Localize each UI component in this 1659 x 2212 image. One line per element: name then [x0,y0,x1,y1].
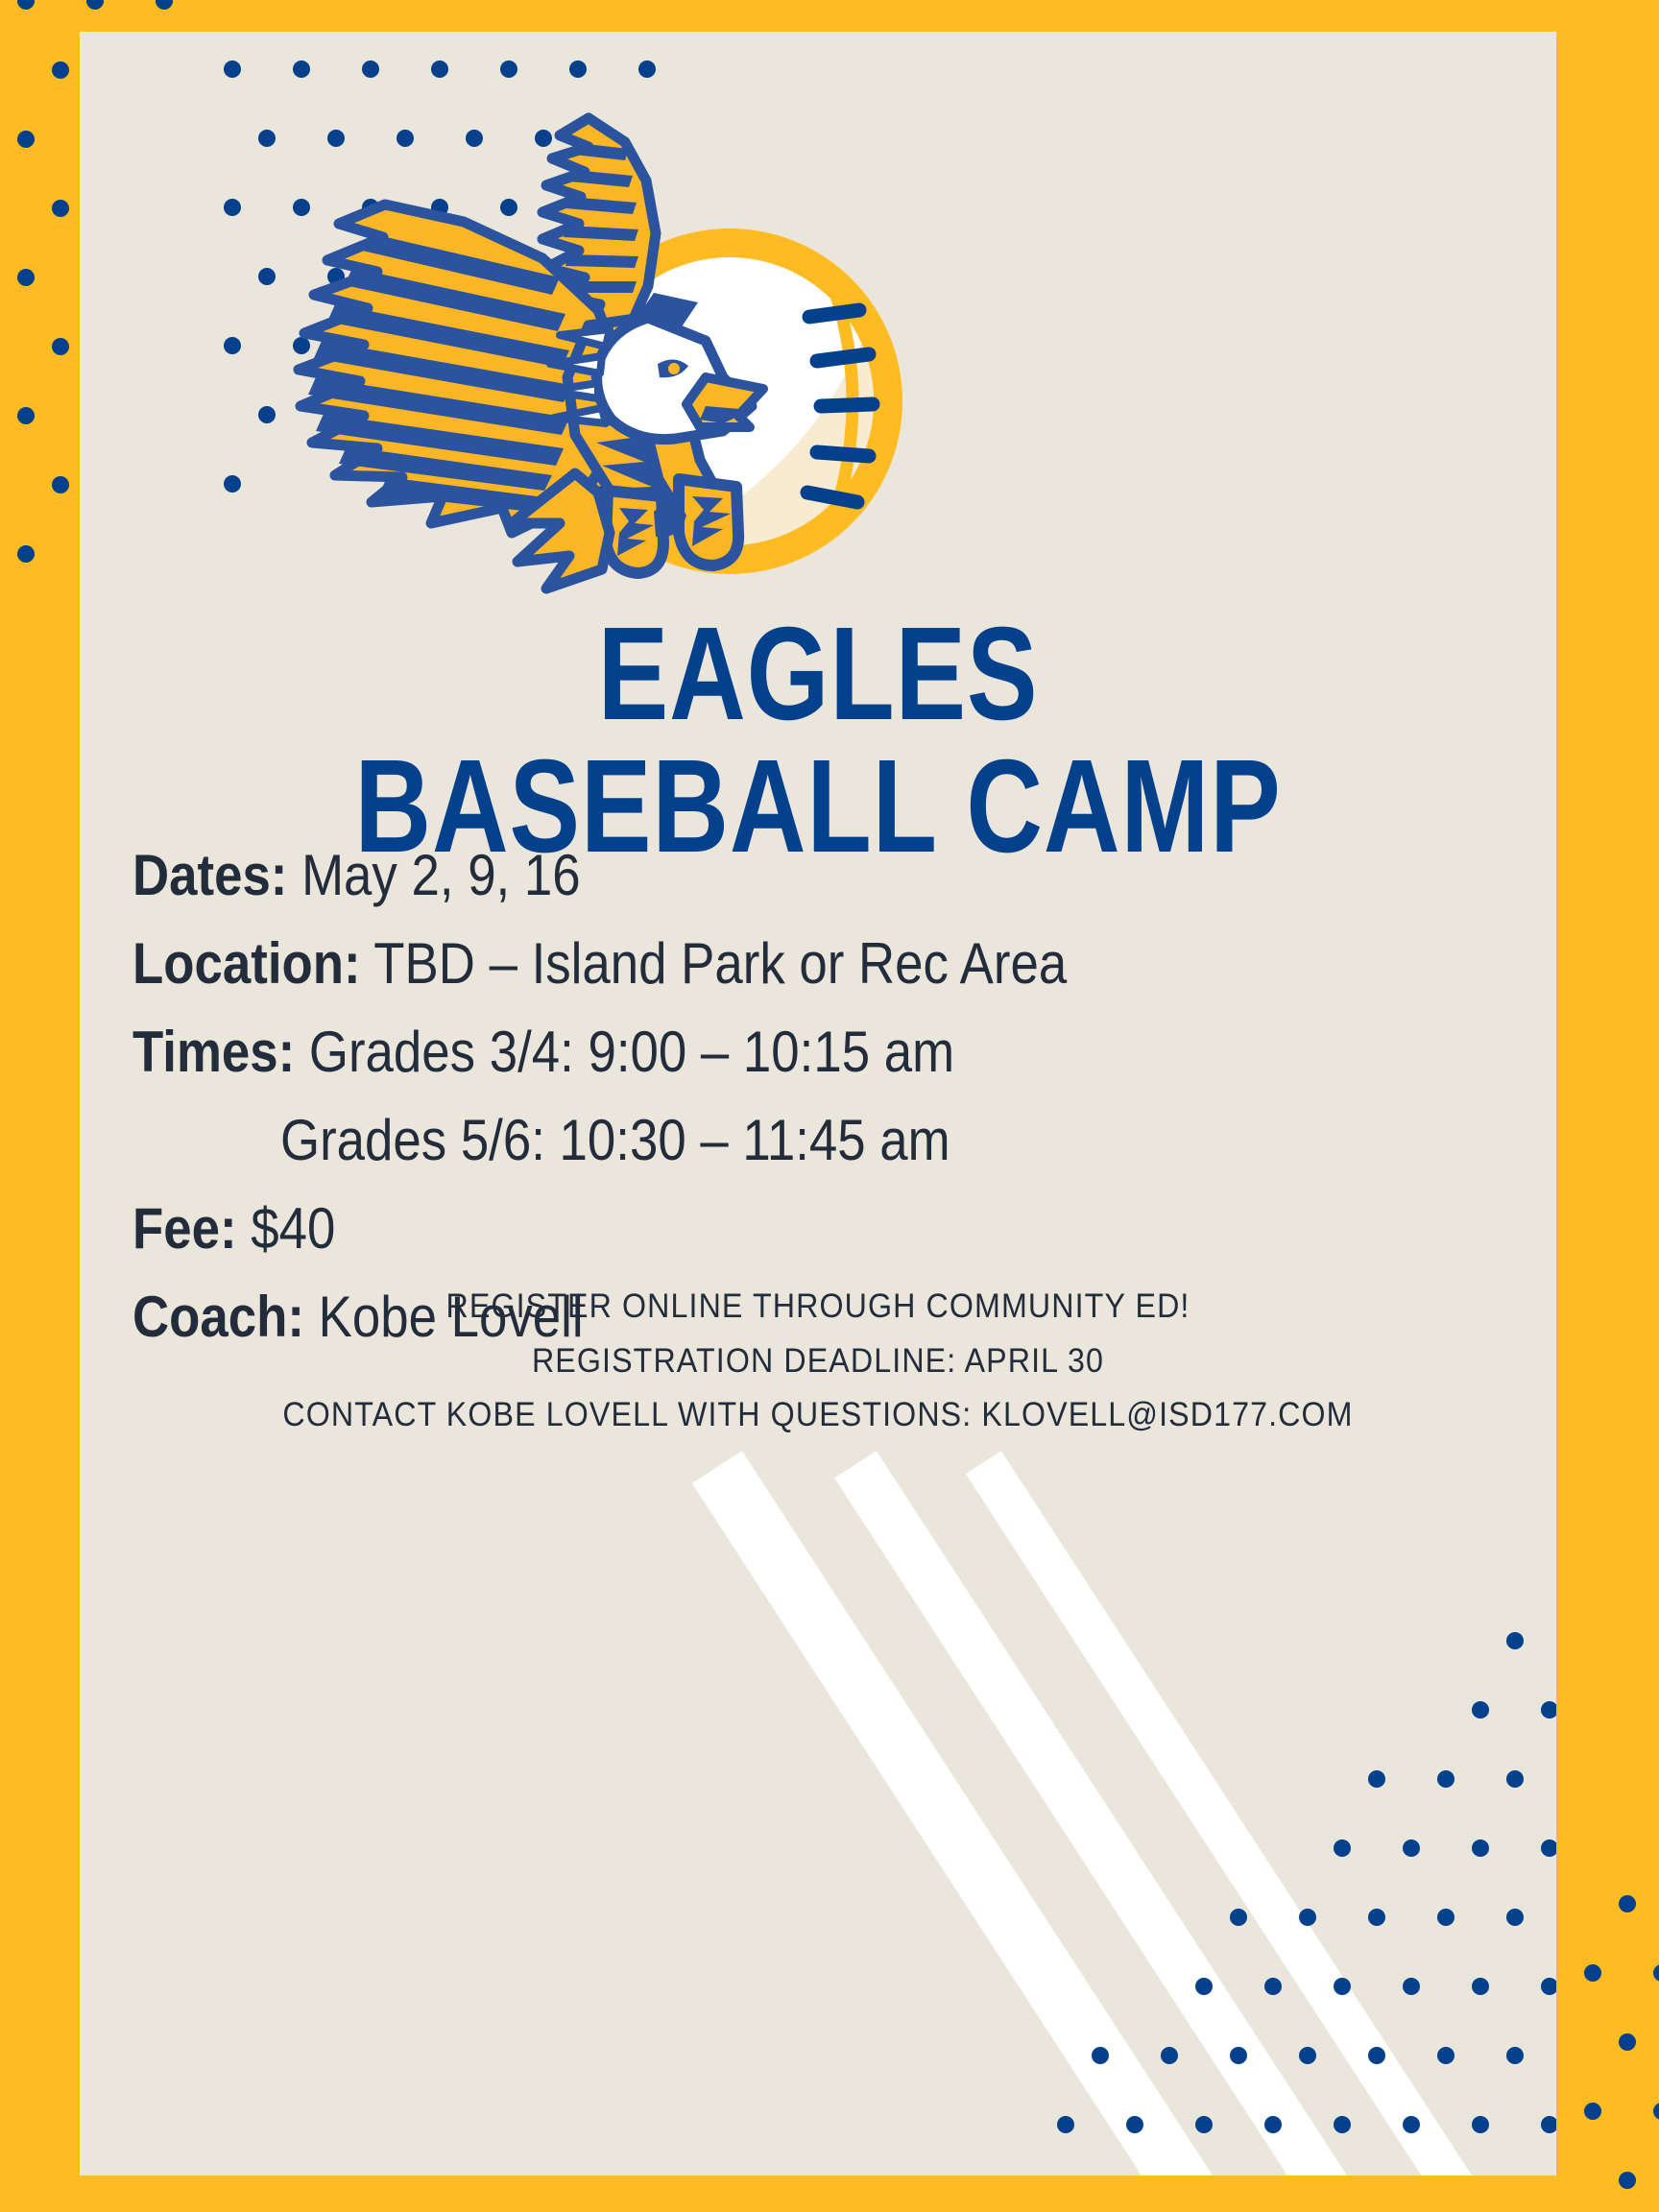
decorative-dot [52,338,69,355]
decorative-dot [1334,2116,1351,2133]
decorative-dot [1619,1895,1636,1912]
detail-label: Dates: [132,843,287,907]
decorative-dot [1230,1909,1247,1926]
decorative-dot [1506,1632,1524,1649]
decorative-dot [1619,2033,1636,2051]
decorative-dot [17,131,35,148]
decorative-dot [1653,2103,1659,2120]
detail-label: Location: [132,931,361,996]
page-title: EAGLES BASEBALL CAMP [80,608,1556,873]
decorative-dot [1368,2047,1385,2064]
decorative-dot [1057,2116,1074,2133]
decorative-dot [17,269,35,286]
decorative-dot [1541,2116,1556,2133]
decorative-dot [1299,1909,1316,1926]
decorative-dot [1506,1909,1524,1926]
detail-row: Times: Grades 3/4: 9:00 – 10:15 am [132,1015,1315,1090]
decorative-dot [1126,2116,1143,2133]
decorative-dot [1472,1701,1489,1719]
detail-value: May 2, 9, 16 [301,843,581,907]
decorative-dot [1541,1701,1556,1719]
detail-row: Grades 5/6: 10:30 – 11:45 am [132,1103,1315,1178]
footer-line: REGISTER ONLINE THROUGH COMMUNITY ED! [139,1280,1498,1334]
decorative-dot [1368,1770,1385,1788]
decorative-dot [1403,2116,1420,2133]
decorative-dot [156,0,173,10]
decorative-dot [1334,1839,1351,1857]
decorative-dot [1368,1909,1385,1926]
decorative-dot [86,0,104,10]
decorative-dot [1584,2103,1601,2120]
decorative-dot [1230,2047,1247,2064]
decorative-dot [52,476,69,493]
decorative-dot [1619,2172,1636,2189]
eagle-baseball-logo [272,89,944,646]
decorative-dot [224,60,241,78]
decorative-dot [1506,1770,1524,1788]
decorative-dot [17,407,35,424]
detail-row: Fee: $40 [132,1191,1315,1266]
bottom-right-stripe-0 [692,1451,1213,2176]
footer-line: REGISTRATION DEADLINE: APRIL 30 [139,1334,1498,1389]
footer-line: CONTACT KOBE LOVELL WITH QUESTIONS: KLOV… [139,1388,1498,1443]
detail-value: TBD – Island Park or Rec Area [373,931,1067,996]
decorative-dot [1264,1978,1282,1995]
decorative-dot [1584,1964,1601,1982]
decorative-dot [1506,2047,1524,2064]
decorative-dot [638,60,656,78]
inner-panel: EAGLES BASEBALL CAMP Dates: May 2, 9, 16… [80,32,1556,2176]
title-line-1: EAGLES [228,608,1408,740]
decorative-dot [52,61,69,79]
decorative-dot [1437,2047,1455,2064]
detail-value: Grades 3/4: 9:00 – 10:15 am [309,1020,954,1084]
decorative-dot [1299,2047,1316,2064]
decorative-dot [1472,1839,1489,1857]
decorative-dot [17,545,35,563]
decorative-dot [293,60,310,78]
decorative-dot [362,60,379,78]
decorative-dot [1264,2116,1282,2133]
decorative-dot [224,199,241,216]
decorative-dot [1403,1978,1420,1995]
poster-root: EAGLES BASEBALL CAMP Dates: May 2, 9, 16… [0,0,1659,2212]
decorative-dot [500,60,517,78]
decorative-dot [17,0,35,10]
detail-label: Fee: [132,1196,237,1261]
decorative-dot [52,200,69,217]
decorative-dot [1437,1909,1455,1926]
decorative-dot [1161,2047,1178,2064]
decorative-dot [1195,2116,1213,2133]
decorative-dot [431,60,448,78]
decorative-dot [1403,1839,1420,1857]
decorative-dot [224,337,241,354]
decorative-dot [1541,1839,1556,1857]
decorative-dot [1472,1978,1489,1995]
decorative-dot [1092,2047,1109,2064]
decorative-dot [569,60,587,78]
detail-value: Grades 5/6: 10:30 – 11:45 am [280,1108,950,1172]
decorative-dot [1472,2116,1489,2133]
decorative-dot [1334,1978,1351,1995]
decorative-dot [1653,1964,1659,1982]
decorative-dot [1195,1978,1213,1995]
detail-label: Times: [132,1020,295,1084]
decorative-dot [1541,1978,1556,1995]
detail-value: $40 [251,1196,335,1261]
decorative-dot [1437,1770,1455,1788]
decorative-dot [224,475,241,493]
detail-row: Location: TBD – Island Park or Rec Area [132,926,1315,1001]
detail-row: Dates: May 2, 9, 16 [132,838,1315,913]
footer-note: REGISTER ONLINE THROUGH COMMUNITY ED!REG… [80,1280,1556,1443]
